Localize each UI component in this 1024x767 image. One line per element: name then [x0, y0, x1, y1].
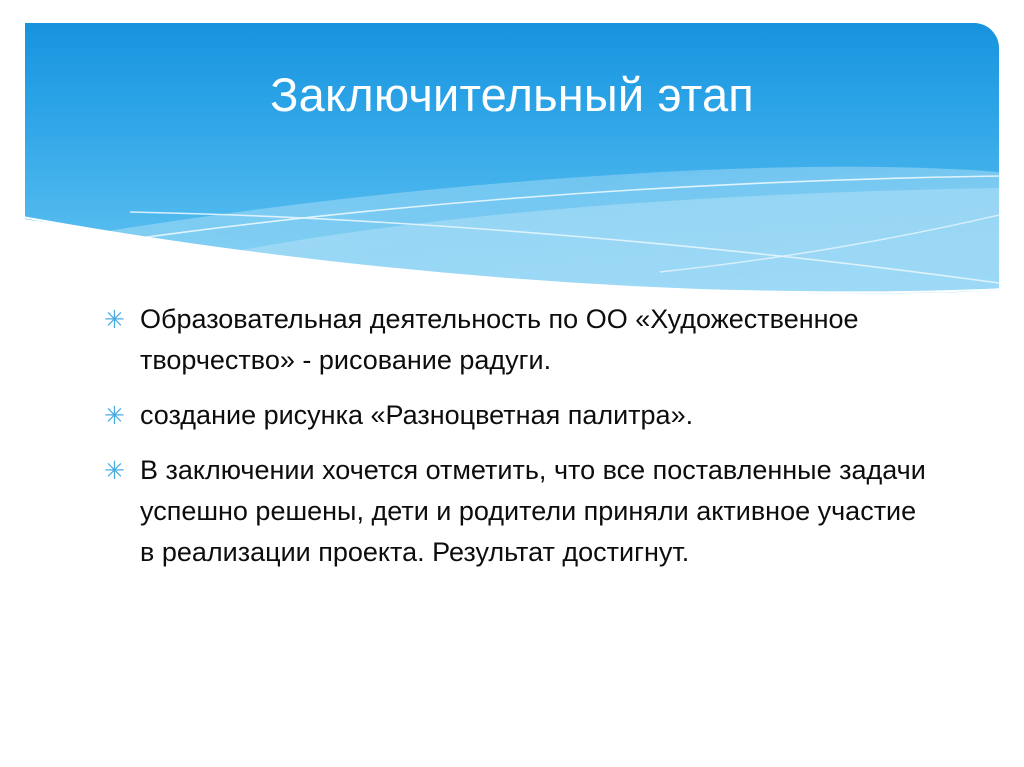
asterisk-bullet-icon: ✳: [104, 450, 126, 491]
banner-right-margin: [999, 0, 1024, 300]
list-item-text: создание рисунка «Разноцветная палитра».: [140, 395, 934, 436]
banner-top-margin: [0, 0, 1024, 23]
slide-banner: [0, 0, 1024, 300]
bullet-list: ✳ Образовательная деятельность по ОО «Ху…: [104, 299, 934, 573]
list-item: ✳ Образовательная деятельность по ОО «Ху…: [104, 299, 934, 381]
asterisk-bullet-icon: ✳: [104, 395, 126, 436]
list-item: ✳ В заключении хочется отметить, что все…: [104, 450, 934, 573]
presentation-slide: Заключительный этап ✳ Образовательная де…: [0, 0, 1024, 767]
banner-left-margin: [0, 0, 25, 300]
banner-wave-graphic: [0, 0, 1024, 300]
list-item: ✳ создание рисунка «Разноцветная палитра…: [104, 395, 934, 436]
list-item-text: В заключении хочется отметить, что все п…: [140, 450, 934, 573]
page-title: Заключительный этап: [25, 66, 999, 124]
list-item-text: Образовательная деятельность по ОО «Худо…: [140, 299, 934, 381]
asterisk-bullet-icon: ✳: [104, 299, 126, 340]
